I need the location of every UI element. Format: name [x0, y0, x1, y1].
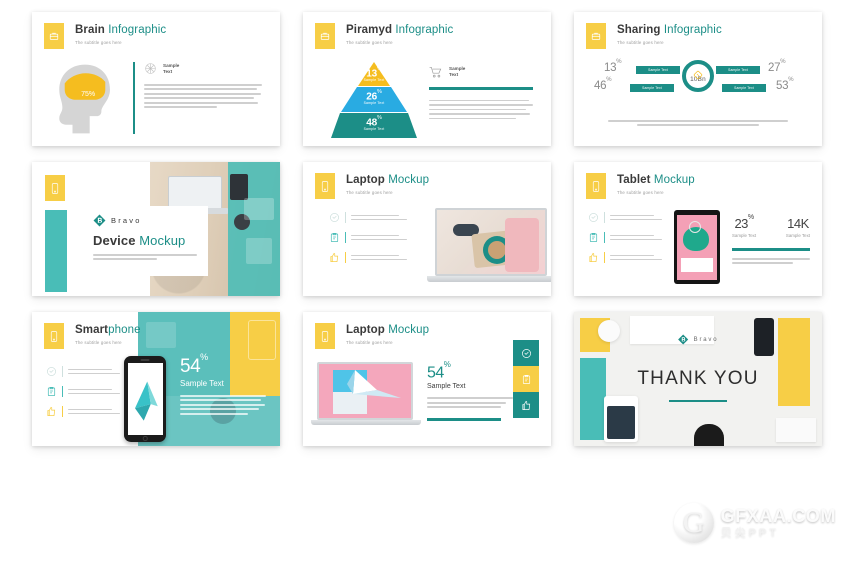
vertical-divider	[133, 62, 135, 134]
slide-title: Laptop Mockup	[346, 174, 429, 187]
list-item[interactable]	[46, 366, 130, 377]
slide-device-mockup[interactable]: Bravo Device Mockup	[32, 162, 280, 296]
green-yarn-photo	[677, 215, 717, 280]
body-paragraph	[180, 395, 272, 415]
thumbs-up-icon	[521, 400, 532, 411]
footer-paragraph	[608, 120, 788, 126]
slide-grid: Brain Infographic The subtitle goes here…	[32, 12, 822, 446]
diamond-icon	[692, 69, 704, 81]
card-prop	[776, 418, 816, 442]
brand-lockup: Bravo	[93, 214, 142, 227]
slide-header: Smartphone The subtitle goes here	[44, 323, 141, 349]
stat-label: Sample Text	[180, 379, 272, 388]
phone-icon	[44, 323, 64, 349]
stat-label: Sample Text	[427, 383, 513, 390]
pyramid-level-1: 13% Sample Text	[331, 62, 417, 86]
thumbs-up-icon	[588, 252, 599, 263]
tag-right-bottom: Sample Text	[722, 84, 766, 92]
phone-prop	[754, 318, 774, 356]
side-icon-chat[interactable]	[513, 340, 539, 366]
coffee-latte-photo	[437, 210, 545, 274]
bullet-list	[46, 366, 130, 417]
slide-header: Tablet Mockup The subtitle goes here	[586, 173, 695, 199]
slide-laptop-mockup-stat[interactable]: Laptop Mockup The subtitle goes here	[303, 312, 551, 446]
slide-subtitle: The subtitle goes here	[617, 40, 722, 45]
stat-block: 54% Sample Text	[427, 364, 513, 421]
slide-sharing-infographic[interactable]: Sharing Infographic The subtitle goes he…	[574, 12, 822, 146]
percent-right-top: 27%	[768, 62, 785, 74]
title-bold: Laptop	[346, 324, 385, 336]
slide-subtitle: The subtitle goes here	[346, 340, 429, 345]
decor-yellow-block-right	[778, 318, 810, 406]
title-light: Mockup	[654, 174, 695, 186]
slide-title: Brain Infographic	[75, 24, 166, 37]
pyramid-level-2: 26% Sample Text	[331, 87, 417, 112]
watermark-site: GFXAA.COM	[721, 507, 836, 525]
slide-subtitle: The subtitle goes here	[75, 40, 166, 45]
slide-subtitle: The subtitle goes here	[346, 190, 429, 195]
chat-icon	[588, 212, 599, 223]
slide-body: Sample Text	[144, 62, 262, 108]
body-paragraph	[429, 100, 533, 120]
slide-subtitle: The subtitle goes here	[75, 340, 141, 345]
title-light: phone	[108, 324, 140, 336]
stat-value: 14K	[786, 216, 810, 231]
title-light: Mockup	[388, 324, 429, 336]
list-item[interactable]	[588, 252, 670, 263]
slide-title: Smartphone	[75, 324, 141, 337]
tag-right-top: Sample Text	[716, 66, 760, 74]
body-paragraph	[732, 258, 810, 264]
clipboard-icon	[329, 232, 340, 243]
brain-icon-row: Sample Text	[144, 62, 262, 75]
pyramid-label-1: Sample Text	[331, 78, 417, 82]
slide-header: Sharing Infographic The subtitle goes he…	[586, 23, 722, 49]
chat-icon	[521, 348, 532, 359]
watermark-logo-icon: G	[674, 503, 714, 543]
title-light: Infographic	[664, 24, 722, 36]
list-item[interactable]	[46, 406, 130, 417]
tablet-mockup	[674, 210, 720, 284]
title-bold: Piramyd	[346, 24, 392, 36]
list-item[interactable]	[588, 212, 670, 223]
slide-title: Laptop Mockup	[346, 324, 429, 337]
slide-title: Device Mockup	[93, 234, 185, 247]
chat-icon	[329, 212, 340, 223]
watermark-sub: 贝尖PPT	[721, 528, 836, 539]
slide-title: Sharing Infographic	[617, 24, 722, 37]
accent-panel	[45, 210, 67, 292]
title-bold: Device	[93, 233, 136, 248]
slide-header: Laptop Mockup The subtitle goes here	[315, 323, 429, 349]
slide-piramyd-infographic[interactable]: Piramyd Infographic The subtitle goes he…	[303, 12, 551, 146]
brand-lockup: Bravo	[678, 334, 719, 345]
title-light: Infographic	[108, 24, 166, 36]
slide-thank-you[interactable]: Bravo THANK YOU	[574, 312, 822, 446]
chat-icon	[46, 366, 57, 377]
stats-row: 23% Sample Text 14K Sample Text	[732, 216, 810, 238]
brand-name: Bravo	[111, 216, 142, 225]
briefcase-icon	[315, 23, 335, 49]
phone-icon	[586, 173, 606, 199]
mouse-prop	[694, 424, 724, 446]
stat-block: 23% Sample Text	[732, 216, 756, 238]
stat-label: Sample Text	[786, 233, 810, 238]
title-light: Mockup	[139, 233, 185, 248]
stat-value: 23%	[732, 216, 756, 231]
thumbs-up-icon	[329, 252, 340, 263]
pyramid-label-3: Sample Text	[331, 127, 417, 131]
slide-brain-infographic[interactable]: Brain Infographic The subtitle goes here…	[32, 12, 280, 146]
stat-label: Sample Text	[732, 233, 756, 238]
title-light: Mockup	[388, 174, 429, 186]
slide-subtitle: The subtitle goes here	[346, 40, 453, 45]
phone-icon	[315, 323, 335, 349]
clipboard-icon	[588, 232, 599, 243]
slide-subtitle: The subtitle goes here	[617, 190, 695, 195]
slide-laptop-mockup-list[interactable]: Laptop Mockup The subtitle goes here	[303, 162, 551, 296]
brain-icon	[144, 62, 157, 75]
tablet-prop	[604, 396, 638, 442]
sharing-diagram: 10Bn Sample Text 13% Sample Text 46% Sam…	[574, 58, 822, 114]
origami-bird-laptop-photo	[319, 364, 411, 418]
bullet-list	[329, 212, 415, 263]
percent-right-bottom: 53%	[776, 80, 793, 92]
slide-header: Laptop Mockup The subtitle goes here	[315, 173, 429, 199]
side-icon-thumbs-up[interactable]	[513, 392, 539, 418]
smartphone-mockup	[124, 356, 166, 442]
title-bold: Laptop	[346, 174, 385, 186]
list-item[interactable]	[329, 252, 415, 263]
accent-bar	[427, 418, 501, 421]
coffee-cup	[598, 320, 620, 342]
slide-header: Piramyd Infographic The subtitle goes he…	[315, 23, 453, 49]
body-paragraph	[427, 397, 513, 408]
side-icon-bar	[513, 340, 539, 418]
slide-tablet-mockup[interactable]: Tablet Mockup The subtitle goes here	[574, 162, 822, 296]
phone-icon	[45, 175, 65, 201]
bravo-logo-icon	[678, 334, 689, 345]
pyramid-chart: 13% Sample Text 26% Sample Text	[331, 62, 417, 138]
side-icon-clipboard[interactable]	[513, 366, 539, 392]
body-paragraph	[93, 254, 197, 260]
brand-name: Bravo	[694, 337, 719, 343]
side-label-2: Text	[163, 69, 179, 75]
title-bold: Sharing	[617, 24, 661, 36]
list-item[interactable]	[588, 232, 670, 243]
brain-percent-label: 75%	[81, 91, 95, 98]
phone-icon	[315, 173, 335, 199]
laptop-mockup	[427, 208, 551, 288]
pyramid-label-2: Sample Text	[331, 101, 417, 105]
thumbs-up-icon	[46, 406, 57, 417]
percent-left-top: 13%	[604, 62, 621, 74]
slide-title: Tablet Mockup	[617, 174, 695, 187]
slide-body: Sample Text	[429, 66, 533, 119]
shopping-cart-icon	[429, 66, 443, 78]
laptop-mockup	[311, 362, 419, 434]
tag-left-bottom: Sample Text	[630, 84, 674, 92]
watermark: G GFXAA.COM 贝尖PPT	[674, 503, 836, 543]
briefcase-icon	[586, 23, 606, 49]
bravo-logo-icon	[93, 214, 106, 227]
bullet-list	[588, 212, 670, 263]
brain-chart: 75%	[46, 60, 124, 138]
list-item[interactable]	[46, 386, 130, 397]
center-node: 10Bn	[682, 60, 714, 92]
slide-smartphone-mockup[interactable]: Smartphone The subtitle goes here	[32, 312, 280, 446]
title-bold: Tablet	[617, 174, 651, 186]
stat-block: 14K Sample Text	[786, 216, 810, 238]
accent-bar	[732, 248, 810, 251]
content-card: Bravo Device Mockup	[84, 206, 208, 276]
title-light: Infographic	[395, 24, 453, 36]
list-item[interactable]	[329, 232, 415, 243]
slide-title: Piramyd Infographic	[346, 24, 453, 37]
tag-left-top: Sample Text	[636, 66, 680, 74]
side-label-1: Sample	[163, 63, 179, 69]
clipboard-icon	[46, 386, 57, 397]
list-item[interactable]	[329, 212, 415, 223]
slide-header: Brain Infographic The subtitle goes here	[44, 23, 166, 49]
side-label-2: Text	[449, 72, 465, 78]
stat-value: 54%	[180, 356, 272, 378]
percent-left-bottom: 46%	[594, 80, 611, 92]
title-bold: Brain	[75, 24, 105, 36]
accent-bar	[429, 87, 533, 90]
body-paragraph	[144, 84, 262, 108]
title-underline	[669, 400, 727, 402]
page-title: THANK YOU	[574, 368, 822, 390]
pyramid-level-3: 48% Sample Text	[331, 113, 417, 138]
stat-block: 54% Sample Text	[180, 356, 272, 415]
template-preview-sheet: Brain Infographic The subtitle goes here…	[0, 0, 850, 567]
clipboard-icon	[521, 374, 532, 385]
briefcase-icon	[44, 23, 64, 49]
stat-value: 54%	[427, 364, 513, 382]
cart-icon-row: Sample Text	[429, 66, 533, 78]
title-bold: Smart	[75, 324, 108, 336]
